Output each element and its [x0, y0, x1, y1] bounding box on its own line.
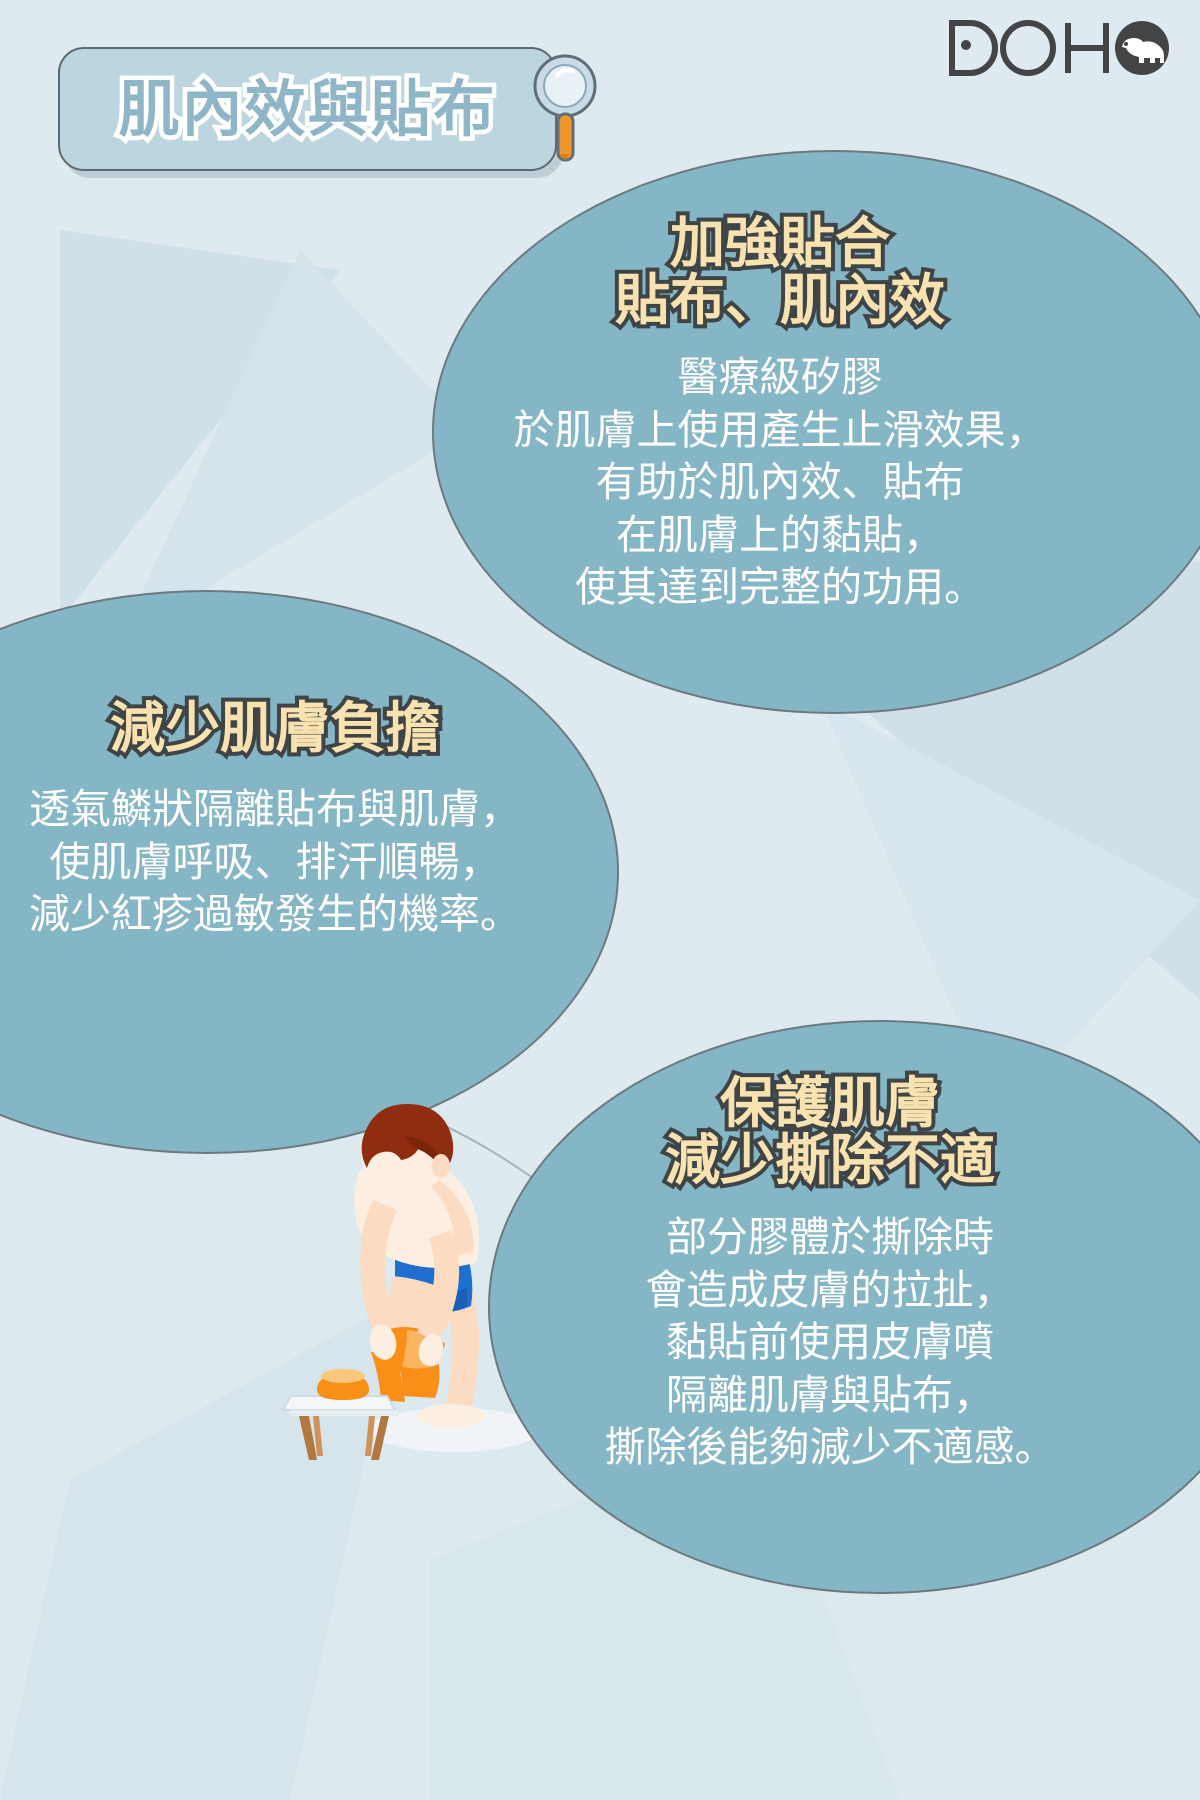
section-protect-skin-heading: 保護肌膚 減少撕除不適: [520, 1075, 1140, 1189]
section-adhesion-heading: 加強貼合 貼布、肌內效: [470, 215, 1090, 329]
section-skin-burden-heading: 減少肌膚負擔: [0, 700, 560, 757]
person-applying-knee-tape-illustration: [255, 1080, 545, 1460]
section-skin-burden: 減少肌膚負擔 透氣鱗狀隔離貼布與肌膚， 使肌膚呼吸、排汗順暢， 減少紅疹過敏發生…: [0, 700, 560, 941]
section-skin-burden-body: 透氣鱗狀隔離貼布與肌膚， 使肌膚呼吸、排汗順暢， 減少紅疹過敏發生的機率。: [0, 783, 560, 940]
section-protect-skin: 保護肌膚 減少撕除不適 部分膠體於撕除時 會造成皮膚的拉扯， 黏貼前使用皮膚噴 …: [520, 1075, 1140, 1474]
page-title-banner: 肌內效與貼布: [58, 47, 557, 171]
doho-logo-icon: [942, 17, 1172, 79]
brand-logo: [942, 16, 1172, 80]
section-protect-skin-body: 部分膠體於撕除時 會造成皮膚的拉扯， 黏貼前使用皮膚噴 隔離肌膚與貼布， 撕除後…: [520, 1211, 1140, 1473]
magnifier-icon: [520, 48, 610, 168]
section-adhesion: 加強貼合 貼布、肌內效 醫療級矽膠 於肌膚上使用產生止滑效果， 有助於肌內效、貼…: [470, 215, 1090, 614]
section-adhesion-body: 醫療級矽膠 於肌膚上使用產生止滑效果， 有助於肌內效、貼布 在肌膚上的黏貼， 使…: [470, 351, 1090, 613]
infographic-canvas: 肌內效與貼布 加強貼合 貼布、肌內效 醫療級矽膠 於肌膚上使用產生止滑效果， 有…: [0, 0, 1200, 1800]
page-title: 肌內效與貼布: [118, 79, 496, 140]
